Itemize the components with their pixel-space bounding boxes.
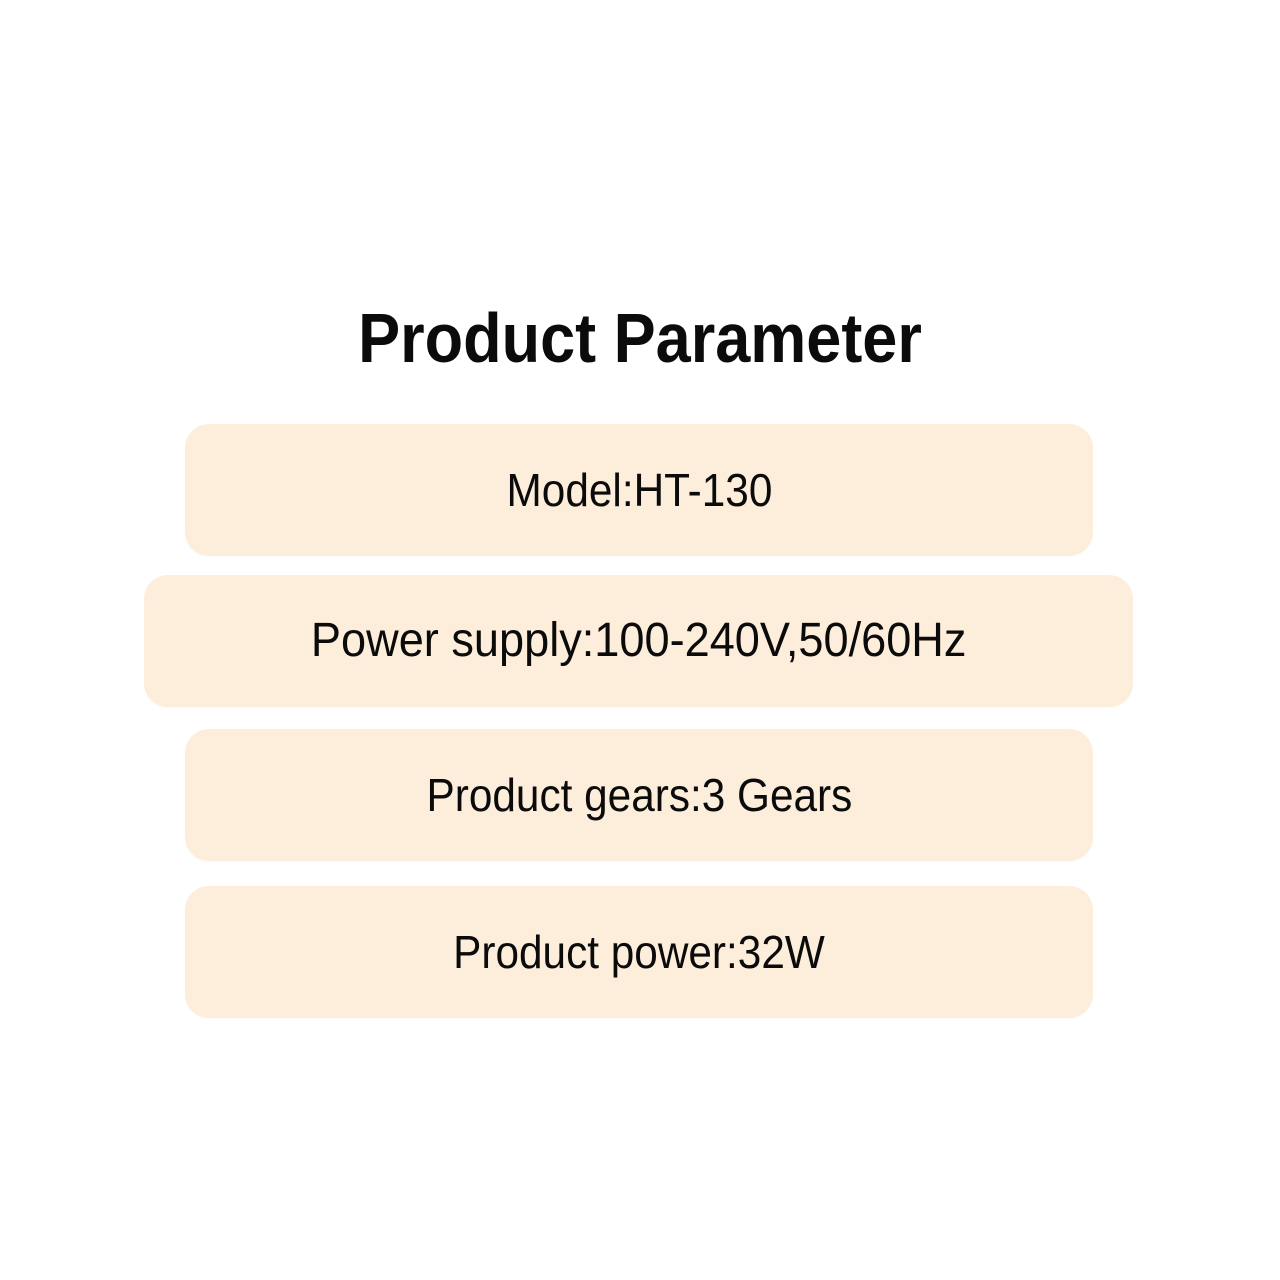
spec-card-product-power: Product power:32W: [185, 886, 1093, 1018]
spec-card-list: Model:HT-130 Power supply:100-240V,50/60…: [0, 0, 1280, 1280]
product-parameter-page: Product Parameter Model:HT-130 Power sup…: [0, 0, 1280, 1280]
spec-card-text: Model:HT-130: [506, 462, 772, 518]
spec-card-text: Product gears:3 Gears: [426, 767, 852, 823]
spec-card-power-supply: Power supply:100-240V,50/60Hz: [144, 575, 1133, 707]
spec-card-text: Power supply:100-240V,50/60Hz: [311, 613, 967, 669]
spec-card-text: Product power:32W: [453, 924, 825, 980]
spec-card-product-gears: Product gears:3 Gears: [185, 729, 1093, 861]
spec-card-model: Model:HT-130: [185, 424, 1093, 556]
